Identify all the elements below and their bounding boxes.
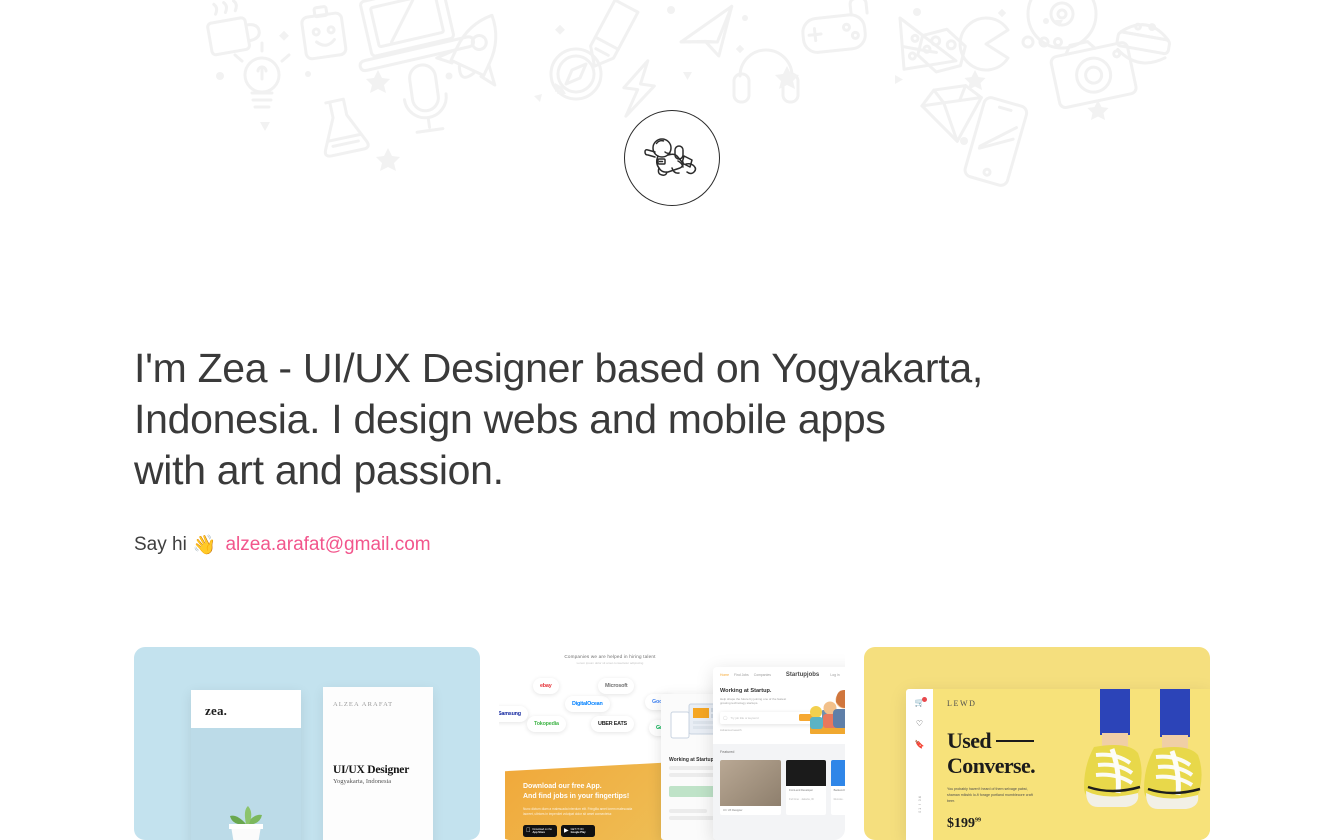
nav-item-companies[interactable]: Companies bbox=[754, 673, 771, 677]
cart-icon[interactable]: 🛒 bbox=[915, 699, 925, 707]
brand-logo-text: zea. bbox=[191, 690, 301, 719]
waving-hand-icon: 👋 bbox=[193, 536, 217, 555]
avatar-container bbox=[0, 110, 1344, 206]
shop-page-preview: 🛒 ♡ 🔖 01 / 04 LEWD Used Converse. You pr… bbox=[906, 689, 1210, 840]
nav-item-home[interactable]: Home bbox=[720, 673, 729, 677]
app-store-badge[interactable]:  Download on theApp Store bbox=[523, 825, 557, 837]
site-hero: Working at Startup. Help shape the futur… bbox=[713, 682, 845, 740]
project-card-converse[interactable]: 🛒 ♡ 🔖 01 / 04 LEWD Used Converse. You pr… bbox=[864, 647, 1210, 840]
company-logo-tokopedia: Tokopedia bbox=[527, 716, 566, 732]
apple-icon:  bbox=[526, 828, 531, 834]
nav-login-link[interactable]: Log in bbox=[830, 673, 839, 677]
company-logo-ubereats: UBER EATS bbox=[591, 716, 634, 732]
logos-heading: Companies we are helped in hiring talent bbox=[505, 647, 715, 659]
people-illustration-icon bbox=[806, 688, 845, 736]
site-nav: Home Find Jobs Companies Startupjobs Log… bbox=[713, 667, 845, 682]
featured-tile-title: Front-end Developer bbox=[786, 786, 825, 796]
job-search-input[interactable]: Try job title or keyword bbox=[730, 716, 796, 720]
shop-body: LEWD Used Converse. You probably haven't… bbox=[933, 689, 1210, 840]
company-logo-ebay: ebay bbox=[533, 678, 559, 694]
site-hero-body: Help shape the future by joining one of … bbox=[720, 697, 796, 706]
lego-brick-icon bbox=[915, 24, 968, 77]
business-card-role: UI/UX Designer bbox=[333, 764, 423, 776]
rocket-icon bbox=[434, 2, 521, 91]
astronaut-illustration-icon bbox=[642, 128, 702, 188]
featured-tile[interactable]: UI / UX Designer bbox=[720, 760, 781, 816]
plant-illustration-icon bbox=[223, 798, 269, 840]
brand-poster: zea. bbox=[191, 690, 301, 840]
compact-disc-icon bbox=[1028, 0, 1096, 48]
featured-tile-meta: Remote · Part time, PT bbox=[831, 795, 845, 805]
featured-tile[interactable]: Backend Developer Remote · Part time, PT bbox=[831, 760, 845, 816]
laptop-icon bbox=[346, 0, 474, 72]
jobs-website-preview: Home Find Jobs Companies Startupjobs Log… bbox=[713, 667, 845, 840]
project-card-startupjobs[interactable]: Companies we are helped in hiring talent… bbox=[499, 647, 845, 840]
email-link[interactable]: alzea.arafat@gmail.com bbox=[225, 532, 430, 558]
camera-icon bbox=[1048, 34, 1137, 109]
job-search-bar[interactable]: ◯ Try job title or keyword bbox=[720, 712, 818, 724]
gamepad-icon bbox=[800, 0, 871, 54]
product-price: $19999 bbox=[947, 816, 1210, 832]
featured-tile[interactable]: Front-end Developer Full time · Jakarta,… bbox=[786, 760, 825, 816]
paper-plane-icon bbox=[678, 6, 737, 59]
featured-tile-title: UI / UX Designer bbox=[720, 806, 781, 816]
featured-tiles: UI / UX Designer Front-end Developer Ful… bbox=[720, 760, 845, 816]
bookmark-icon[interactable]: 🔖 bbox=[915, 741, 925, 749]
project-card-list: zea. ALZEA ARAFAT UI/UX Designer Yogyaka… bbox=[134, 647, 1210, 840]
burger-icon bbox=[1114, 19, 1172, 67]
featured-label: Featured bbox=[720, 750, 734, 754]
hero-content: I'm Zea - UI/UX Designer based on Yogyak… bbox=[134, 343, 1210, 558]
contact-label: Say hi bbox=[134, 532, 187, 558]
business-card-location: Yogyakarta, Indonesia bbox=[333, 778, 423, 785]
featured-section: Featured UI / UX Designer Front-end Deve… bbox=[713, 744, 845, 840]
business-card-name: ALZEA ARAFAT bbox=[333, 701, 423, 708]
app-cta-body: Nunc dictum diam a malesuada interdum el… bbox=[523, 807, 643, 817]
pizza-slice-icon bbox=[889, 6, 956, 77]
product-description: You probably haven't heard of them selva… bbox=[947, 786, 1039, 804]
headline-primary: I'm Zea - UI/UX Designer based on Yogyak… bbox=[134, 345, 983, 442]
site-logo: Startupjobs bbox=[786, 672, 819, 678]
google-play-badge[interactable]: ▶ GET IT ONGoogle Play bbox=[561, 825, 595, 837]
pencil-icon bbox=[583, 0, 638, 72]
headphones-icon bbox=[734, 50, 798, 102]
headline-secondary: with art and passion. bbox=[134, 447, 504, 493]
heart-icon[interactable]: ♡ bbox=[916, 720, 923, 728]
company-logo-samsung: Samsung bbox=[499, 706, 528, 722]
pacman-icon bbox=[960, 18, 1061, 70]
coffee-mug-icon bbox=[204, 0, 262, 55]
product-title: Used Converse. bbox=[947, 728, 1210, 778]
lightbulb-icon bbox=[235, 43, 289, 107]
page-title: I'm Zea - UI/UX Designer based on Yogyak… bbox=[134, 343, 1124, 496]
business-card: ALZEA ARAFAT UI/UX Designer Yogyakarta, … bbox=[323, 687, 433, 840]
search-icon: ◯ bbox=[723, 715, 727, 720]
avatar bbox=[624, 110, 720, 206]
lego-head-icon bbox=[300, 4, 347, 59]
nav-item-findjobs[interactable]: Find Jobs bbox=[734, 673, 749, 677]
contact-row: Say hi 👋 alzea.arafat@gmail.com bbox=[134, 532, 1210, 558]
featured-tile-meta: Full time · Jakarta, ID bbox=[786, 795, 825, 805]
play-icon: ▶ bbox=[564, 828, 569, 834]
featured-tile-title: Backend Developer bbox=[831, 786, 845, 796]
logos-subheading: Lorem ipsum dolor sit amet consectetur a… bbox=[505, 661, 715, 665]
project-card-branding[interactable]: zea. ALZEA ARAFAT UI/UX Designer Yogyaka… bbox=[134, 647, 480, 840]
rail-counter: 01 / 04 bbox=[918, 795, 922, 812]
compass-icon bbox=[551, 49, 601, 99]
shop-side-rail: 🛒 ♡ 🔖 01 / 04 bbox=[906, 689, 933, 840]
company-logo-digitalocean: DigitalOcean bbox=[565, 696, 610, 712]
company-logo-microsoft: Microsoft bbox=[598, 678, 634, 694]
